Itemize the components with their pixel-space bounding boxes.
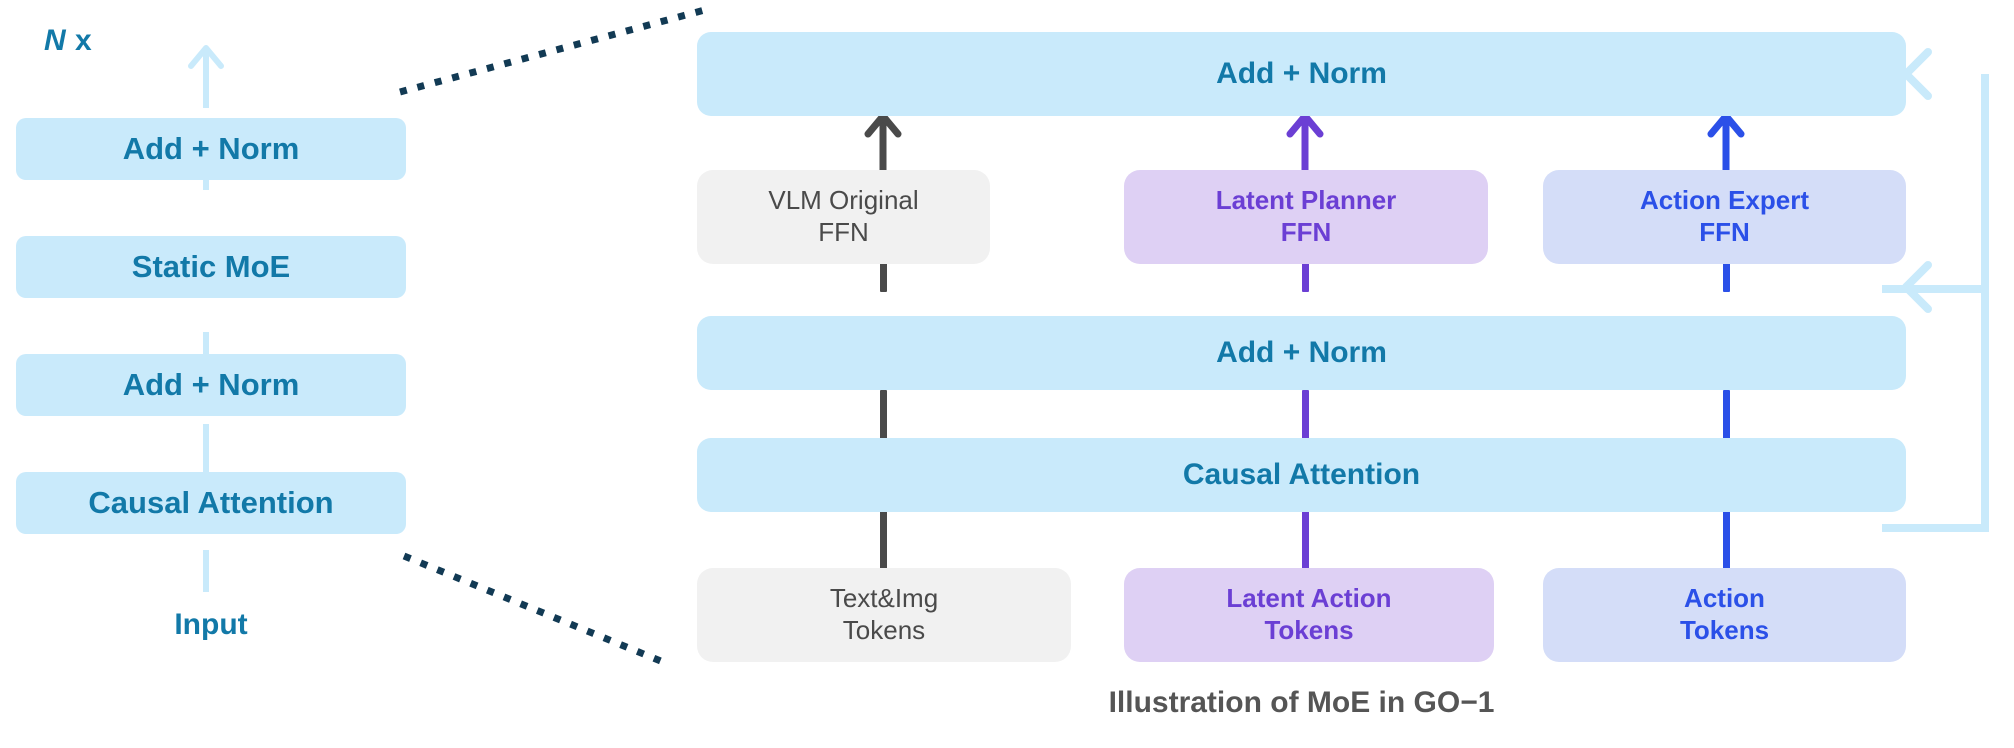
expert-action-expert-ffn[interactable]: Action Expert FFN bbox=[1543, 170, 1906, 264]
expert-vlm-original-ffn[interactable]: VLM Original FFN bbox=[697, 170, 990, 264]
residual-arrowhead-lower-icon bbox=[1906, 265, 1928, 309]
left-input-label: Input bbox=[16, 608, 406, 642]
arrow-vlm-ffn-up-icon bbox=[862, 110, 904, 172]
right-bar-add-norm-mid[interactable]: Add + Norm bbox=[697, 316, 1906, 390]
left-connector-input bbox=[203, 550, 209, 592]
left-connector-4 bbox=[203, 424, 209, 472]
left-block-causal-attention[interactable]: Causal Attention bbox=[16, 472, 406, 534]
zoom-connector-bottom bbox=[404, 556, 668, 664]
left-stack-output-arrow-icon bbox=[188, 42, 224, 110]
right-bar-add-norm-top[interactable]: Add + Norm bbox=[697, 32, 1906, 116]
left-block-add-norm-top[interactable]: Add + Norm bbox=[16, 118, 406, 180]
right-bar-causal-attention[interactable]: Causal Attention bbox=[697, 438, 1906, 512]
residual-arrowhead-upper-icon bbox=[1906, 52, 1928, 96]
tokens-latent-action[interactable]: Latent Action Tokens bbox=[1124, 568, 1494, 662]
repeat-count-n: N bbox=[44, 24, 66, 57]
left-block-add-norm-bottom[interactable]: Add + Norm bbox=[16, 354, 406, 416]
tokens-action[interactable]: Action Tokens bbox=[1543, 568, 1906, 662]
repeat-count-label: N x bbox=[44, 24, 92, 58]
expert-latent-planner-ffn[interactable]: Latent Planner FFN bbox=[1124, 170, 1488, 264]
stream-line-latent-attention-to-tokens bbox=[1302, 510, 1309, 572]
stream-line-action-attention-to-tokens bbox=[1723, 510, 1730, 572]
tokens-text-img[interactable]: Text&Img Tokens bbox=[697, 568, 1071, 662]
zoom-connector-top bbox=[400, 8, 712, 92]
arrow-latent-ffn-up-icon bbox=[1284, 110, 1326, 172]
left-block-static-moe[interactable]: Static MoE bbox=[16, 236, 406, 298]
arrow-action-ffn-up-icon bbox=[1705, 110, 1747, 172]
stream-line-vlm-attention-to-tokens bbox=[880, 510, 887, 572]
repeat-count-x: x bbox=[66, 24, 92, 57]
figure-caption: Illustration of MoE in GO−1 bbox=[697, 686, 1906, 720]
figure-canvas: N x Add + Norm Static MoE Add + Norm Cau… bbox=[0, 0, 2014, 748]
